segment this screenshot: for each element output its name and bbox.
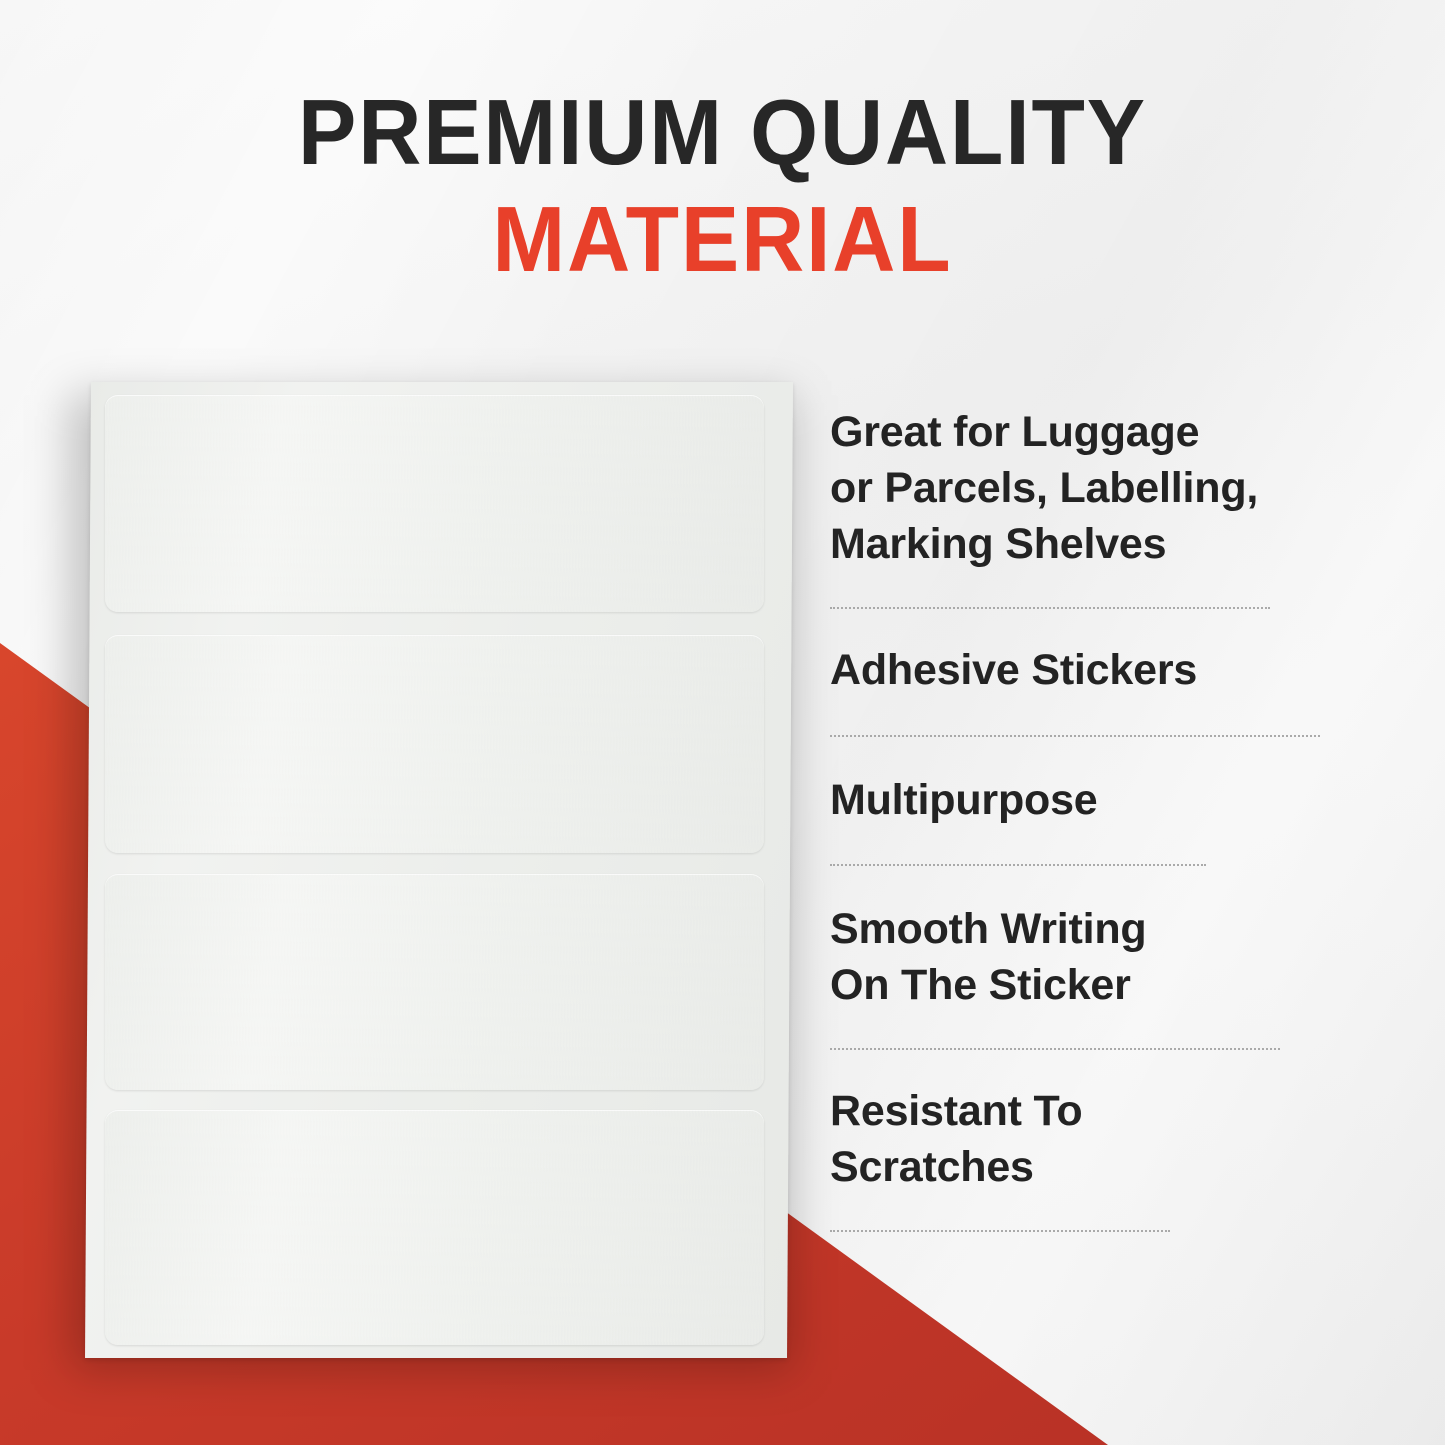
headline-line-1: PREMIUM QUALITY: [43, 86, 1401, 179]
page-title: PREMIUM QUALITY MATERIAL: [0, 86, 1445, 286]
label-sticker: [105, 635, 764, 853]
feature-label: Resistant To Scratches: [830, 1084, 1350, 1196]
feature-item-resistant-to-scratches: Resistant To Scratches: [830, 1084, 1350, 1232]
feature-divider: [830, 1230, 1170, 1232]
feature-label: Adhesive Stickers: [830, 643, 1350, 699]
label-sticker: [105, 874, 764, 1090]
label-sticker: [105, 1110, 764, 1345]
feature-divider: [830, 1048, 1280, 1050]
label-sheet: [85, 382, 793, 1358]
feature-list: Great for Luggage or Parcels, Labelling,…: [830, 405, 1350, 1232]
feature-label: Smooth Writing On The Sticker: [830, 902, 1350, 1014]
label-sticker: [105, 395, 764, 612]
feature-divider: [830, 864, 1206, 866]
feature-label: Multipurpose: [830, 773, 1350, 829]
feature-item-multipurpose: Multipurpose: [830, 773, 1350, 867]
feature-label: Great for Luggage or Parcels, Labelling,…: [830, 405, 1350, 573]
infographic-canvas: PREMIUM QUALITY MATERIAL Great for Lugga…: [0, 0, 1445, 1445]
feature-divider: [830, 607, 1270, 609]
feature-item-adhesive-stickers: Adhesive Stickers: [830, 643, 1350, 737]
feature-divider: [830, 735, 1320, 737]
feature-item-smooth-writing: Smooth Writing On The Sticker: [830, 902, 1350, 1050]
feature-item-great-for-luggage: Great for Luggage or Parcels, Labelling,…: [830, 405, 1350, 609]
headline-line-2: MATERIAL: [43, 193, 1401, 286]
